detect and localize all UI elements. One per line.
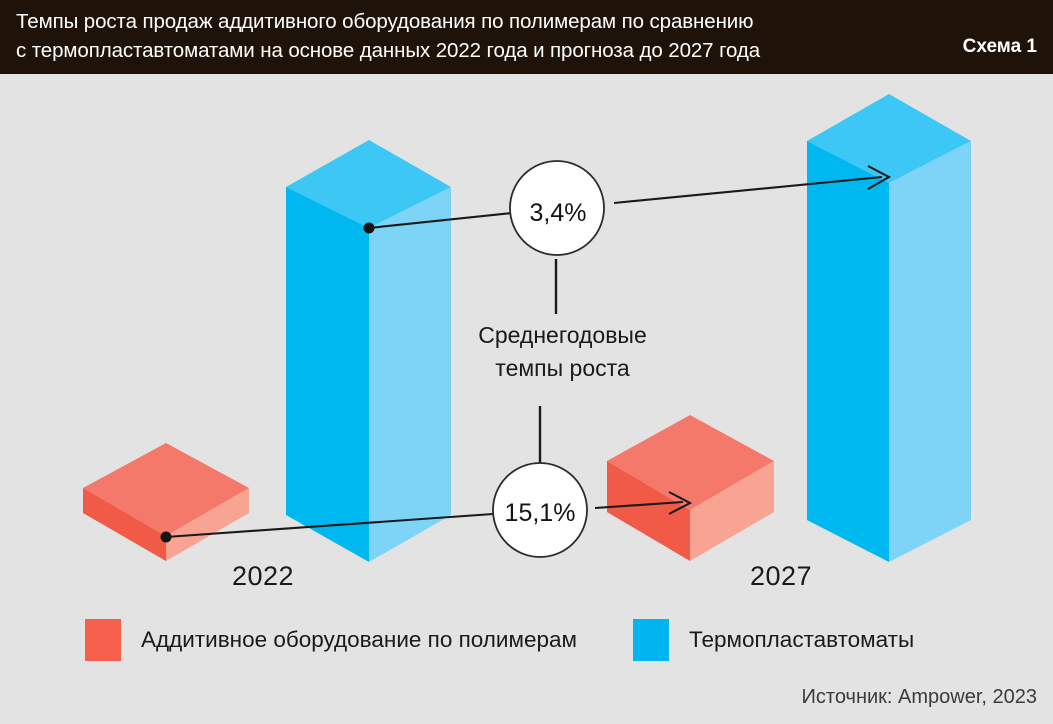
chart-legend: Аддитивное оборудование по полимерам Тер… <box>0 619 1053 667</box>
cagr-bubble-injection-label: 3,4% <box>498 199 618 228</box>
legend-item-additive[interactable]: Аддитивное оборудование по полимерам <box>85 619 577 661</box>
cagr-bubble-additive-label: 15,1% <box>480 499 600 528</box>
bar-2027-additive <box>607 415 774 561</box>
header-bar: Темпы роста продаж аддитивного оборудова… <box>0 0 1053 74</box>
category-label-2027: 2027 <box>750 561 812 592</box>
chart-plot-area: 3,4% 15,1% Среднегодовые темпы роста 202… <box>0 74 1053 724</box>
callout-text: Среднегодовые темпы роста <box>430 319 695 385</box>
category-label-2022: 2022 <box>232 561 294 592</box>
legend-label-injection: Термопластавтоматы <box>689 627 914 653</box>
legend-swatch-injection <box>633 619 669 661</box>
legend-label-additive: Аддитивное оборудование по полимерам <box>141 627 577 653</box>
figure-number-badge: Схема 1 <box>963 36 1037 58</box>
bar-2022-injection-left-face <box>286 187 369 562</box>
bar-2022-injection <box>286 140 451 562</box>
source-note: Источник: Ampower, 2023 <box>802 686 1037 709</box>
legend-swatch-additive <box>85 619 121 661</box>
page-title: Темпы роста продаж аддитивного оборудова… <box>16 7 876 65</box>
bar-2027-injection-right-face <box>889 141 971 562</box>
bar-2027-injection-left-face <box>807 141 889 562</box>
chart-page: Темпы роста продаж аддитивного оборудова… <box>0 0 1053 724</box>
bar-2027-injection <box>807 94 971 562</box>
legend-item-injection[interactable]: Термопластавтоматы <box>633 619 914 661</box>
bar-2022-additive <box>83 443 249 561</box>
